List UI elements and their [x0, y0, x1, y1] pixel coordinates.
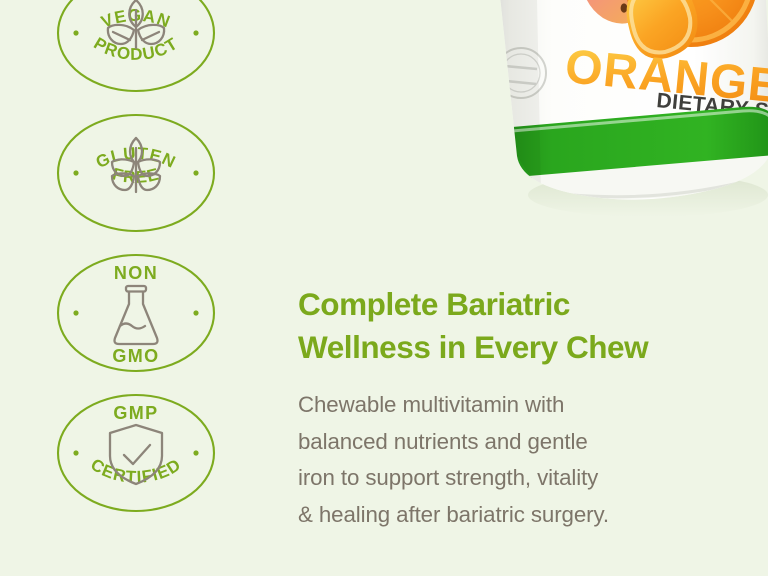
badge-vegan-product: VEGAN PRODUCT	[55, 0, 217, 94]
badge-dot-left	[73, 450, 78, 455]
badge-gluten-free: GLUTEN FREE	[55, 112, 217, 234]
badge-non-gmo: NON GMO	[55, 252, 217, 374]
badge-dot-left	[73, 310, 78, 315]
badge-top-label: NON	[114, 263, 158, 283]
product-bottle-photo: ORANGE DIETARY SUPPLEMENT	[443, 0, 768, 242]
badge-dot-right	[193, 310, 198, 315]
badge-dot-right	[193, 170, 198, 175]
marketing-copy-block: Complete Bariatric Wellness in Every Che…	[298, 283, 728, 533]
bottle-left-shade	[490, 0, 541, 192]
badge-bottom-label: GMO	[112, 346, 159, 366]
badge-dot-right	[193, 450, 198, 455]
certification-badge-column: VEGAN PRODUCT G	[55, 0, 227, 532]
lab-flask-icon	[115, 286, 158, 344]
badge-dot-left	[73, 170, 78, 175]
headline: Complete Bariatric Wellness in Every Che…	[298, 283, 728, 369]
badge-dot-left	[73, 30, 78, 35]
badge-dot-right	[193, 30, 198, 35]
body-copy: Chewable multivitamin with balanced nutr…	[298, 387, 728, 533]
badge-top-label: GMP	[113, 403, 158, 423]
mango-stem-dot	[621, 3, 628, 12]
badge-gmp-certified: GMP CERTIFIED	[55, 392, 217, 514]
